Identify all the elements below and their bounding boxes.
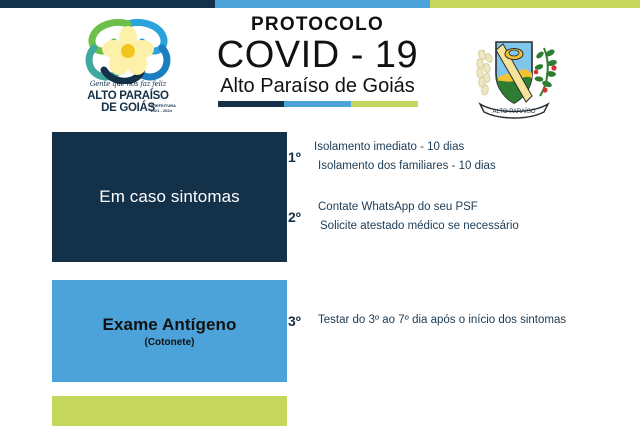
footer-accent-bar [52,396,287,426]
step-1-marker: 1º [288,149,314,165]
title-accent-segment-blue [284,101,351,107]
step-1: 1º Isolamento imediato - 10 dias Isolame… [288,138,496,176]
step-2: 2º Contate WhatsApp do seu PSF Solicite … [288,198,519,236]
city-logo-subtext-line2: 2021 - 2024 [150,109,176,114]
city-logo-script-tagline: Gente que nos faz feliz [78,80,178,88]
city-logo: Gente que nos faz feliz ALTO PARAÍSO DE … [78,18,178,118]
panel-exam-title: Exame Antígeno [103,315,237,335]
top-accent-segment-navy [0,0,215,8]
step-1-line-2: Isolamento dos familiares - 10 dias [314,157,496,176]
step-3-line-1: Testar do 3º ao 7º dia após o início dos… [314,311,566,330]
title-kicker: PROTOCOLO [190,14,445,36]
panel-symptoms-title: Em caso sintomas [99,187,239,207]
title-accent-segment-green [351,101,418,107]
step-2-marker: 2º [288,209,314,225]
top-accent-bar [0,0,640,8]
top-accent-segment-blue [215,0,430,8]
top-accent-segment-green [430,0,640,8]
title-accent-rule [218,101,418,107]
coat-of-arms-motto: ALTO PARAÍSO [492,108,535,115]
step-1-line-1: Isolamento imediato - 10 dias [314,138,496,157]
step-2-line-1: Contate WhatsApp do seu PSF [314,198,519,217]
step-1-lines: Isolamento imediato - 10 dias Isolamento… [314,138,496,176]
panel-exam: Exame Antígeno (Cotonete) [52,280,287,382]
step-3: 3º Testar do 3º ao 7º dia após o início … [288,311,566,330]
step-3-lines: Testar do 3º ao 7º dia após o início dos… [314,311,566,330]
panel-exam-subtitle: (Cotonete) [145,337,195,348]
title-main: COVID - 19 [190,35,445,75]
covid-protocol-poster: Gente que nos faz feliz ALTO PARAÍSO DE … [0,0,640,426]
poster-body: Em caso sintomas Exame Antígeno (Cotonet… [0,122,640,426]
title-city: Alto Paraíso de Goiás [190,74,445,98]
city-logo-name-line1: ALTO PARAÍSO [78,90,178,102]
city-logo-subtext: PREFEITURA 2021 - 2024 [150,104,176,113]
step-2-lines: Contate WhatsApp do seu PSF Solicite ate… [314,198,519,236]
panel-symptoms: Em caso sintomas [52,132,287,262]
coat-of-arms-icon: ALTO PARAÍSO [466,22,562,120]
step-2-line-2: Solicite atestado médico se necessário [314,217,519,236]
poster-title-block: PROTOCOLO COVID - 19 Alto Paraíso de Goi… [190,14,445,107]
poster-header: Gente que nos faz feliz ALTO PARAÍSO DE … [0,8,640,122]
city-logo-flower-icon [78,18,178,84]
step-3-marker: 3º [288,313,314,329]
title-accent-segment-navy [218,101,285,107]
